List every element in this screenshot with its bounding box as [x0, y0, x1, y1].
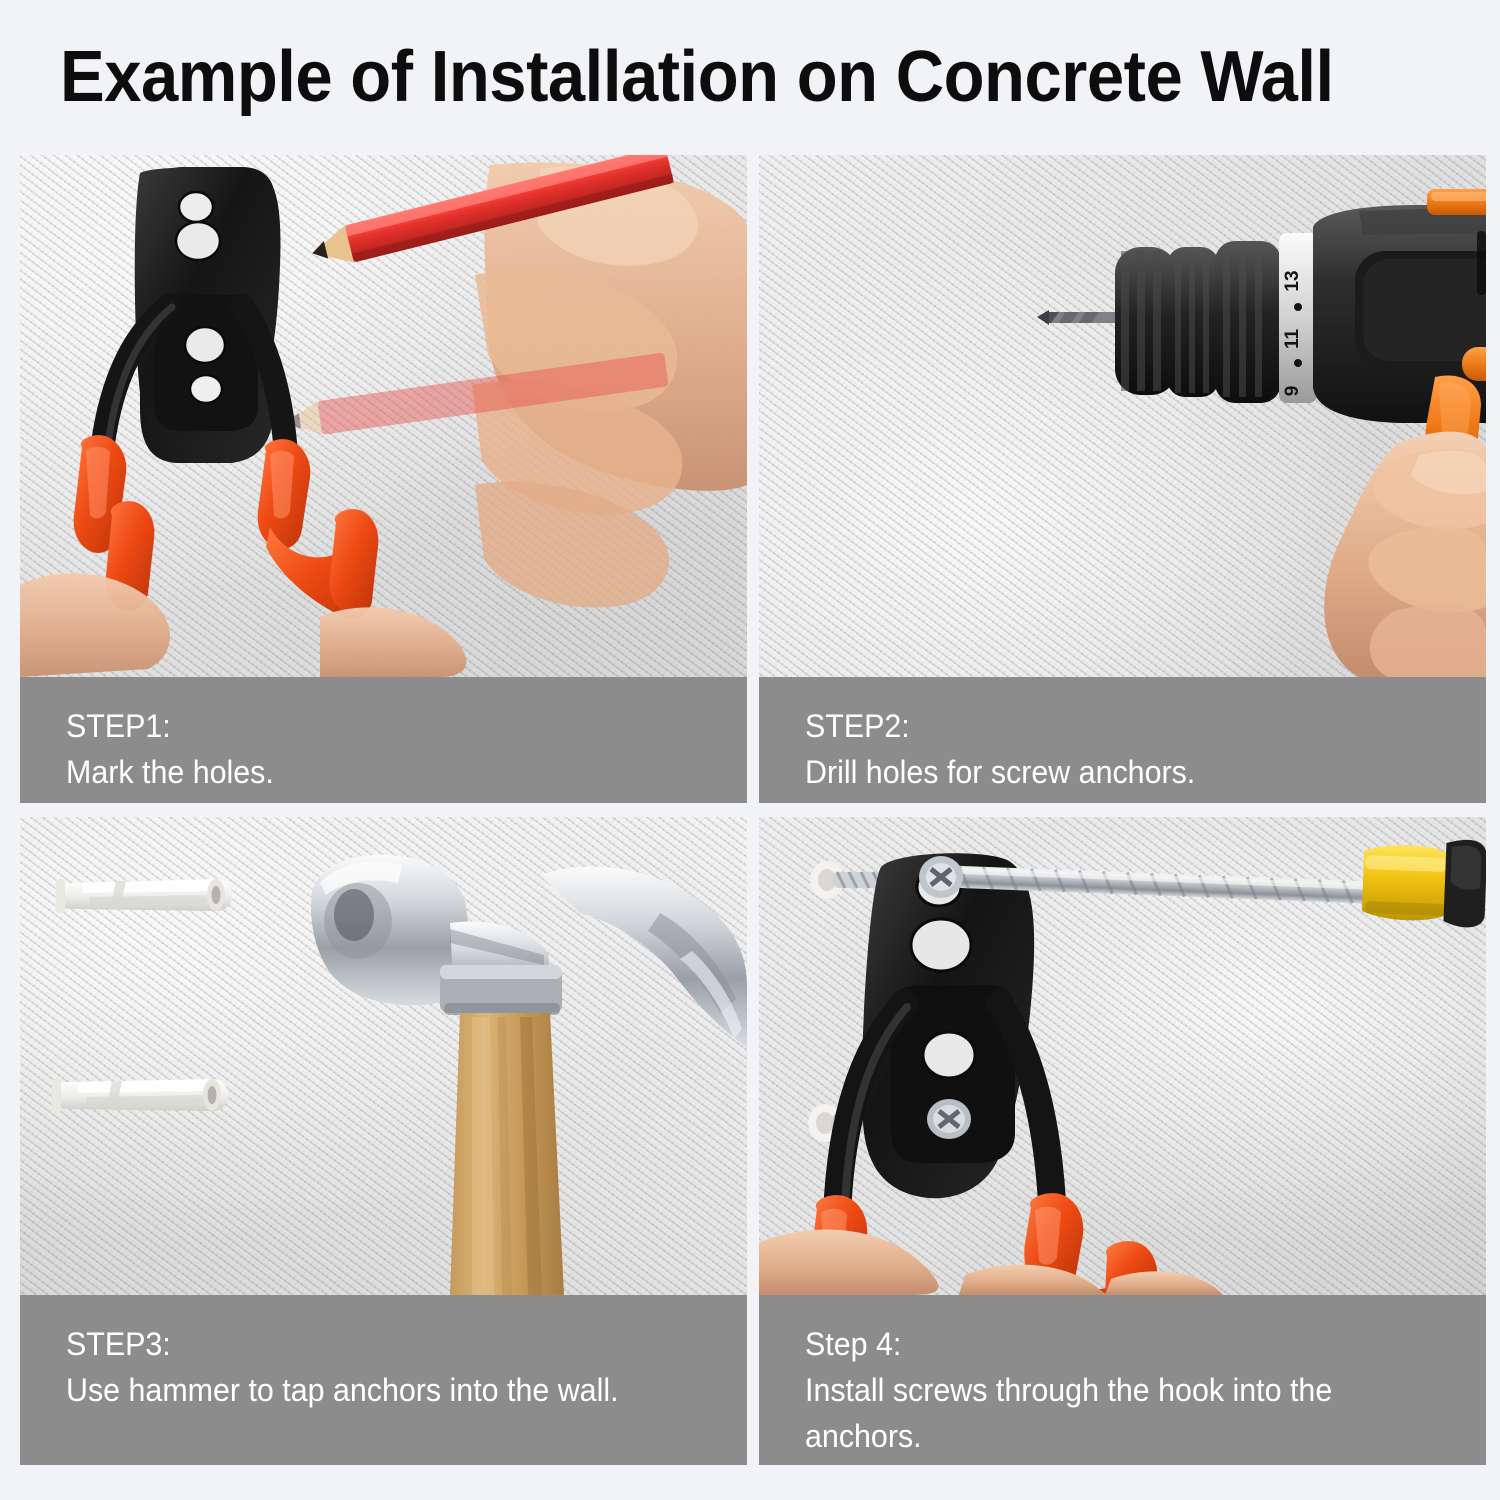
drill-clutch-ring: 13 11 9 [1279, 233, 1317, 403]
screwdriver-handle [1362, 839, 1486, 928]
page-title: Example of Installation on Concrete Wall [60, 34, 1362, 120]
installation-guide-page: Example of Installation on Concrete Wall [0, 0, 1500, 1500]
step-2-illustration: 13 11 9 [759, 155, 1486, 677]
claw-hammer [311, 855, 747, 1295]
step-4-caption: Step 4: Install screws through the hook … [759, 1295, 1486, 1465]
hand-lower [20, 573, 466, 677]
svg-text:11: 11 [1282, 329, 1303, 350]
step-4-photo [759, 817, 1486, 1295]
wall-hook-bracket [837, 853, 1053, 1221]
step-1-photo [20, 155, 747, 677]
step-panel-4: Step 4: Install screws through the hook … [759, 817, 1486, 1465]
step-1-label: STEP1: [66, 703, 669, 749]
wall-anchor-bottom [52, 1079, 228, 1113]
step-3-photo [20, 817, 747, 1295]
svg-text:9: 9 [1282, 386, 1303, 397]
step-2-description: Drill holes for screw anchors. [805, 749, 1408, 795]
step-3-caption: STEP3: Use hammer to tap anchors into th… [20, 1295, 747, 1465]
hand [1324, 432, 1486, 677]
step-2-label: STEP2: [805, 703, 1408, 749]
drill-chuck [1115, 241, 1281, 403]
step-4-label: Step 4: [805, 1321, 1408, 1367]
drill-vents [1477, 231, 1486, 295]
drill-speed-selector [1427, 189, 1486, 215]
steps-grid: STEP1: Mark the holes. [20, 155, 1480, 1465]
step-4-description: Install screws through the hook into the… [805, 1367, 1408, 1459]
screw-lower [927, 1099, 971, 1139]
drill-bit [1037, 310, 1123, 325]
step-1-description: Mark the holes. [66, 749, 669, 795]
step-3-description: Use hammer to tap anchors into the wall. [66, 1367, 669, 1413]
wall-anchor-top [56, 879, 232, 913]
step-1-illustration [20, 155, 747, 677]
step-panel-1: STEP1: Mark the holes. [20, 155, 747, 803]
step-3-illustration [20, 817, 747, 1295]
screw-upper [919, 856, 963, 898]
svg-text:13: 13 [1282, 270, 1303, 291]
step-4-illustration [759, 817, 1486, 1295]
wall-hook-bracket [102, 167, 286, 463]
step-2-caption: STEP2: Drill holes for screw anchors. [759, 677, 1486, 803]
step-2-photo: 13 11 9 [759, 155, 1486, 677]
step-3-label: STEP3: [66, 1321, 669, 1367]
step-1-caption: STEP1: Mark the holes. [20, 677, 747, 803]
step-panel-2: 13 11 9 [759, 155, 1486, 803]
step-panel-3: STEP3: Use hammer to tap anchors into th… [20, 817, 747, 1465]
